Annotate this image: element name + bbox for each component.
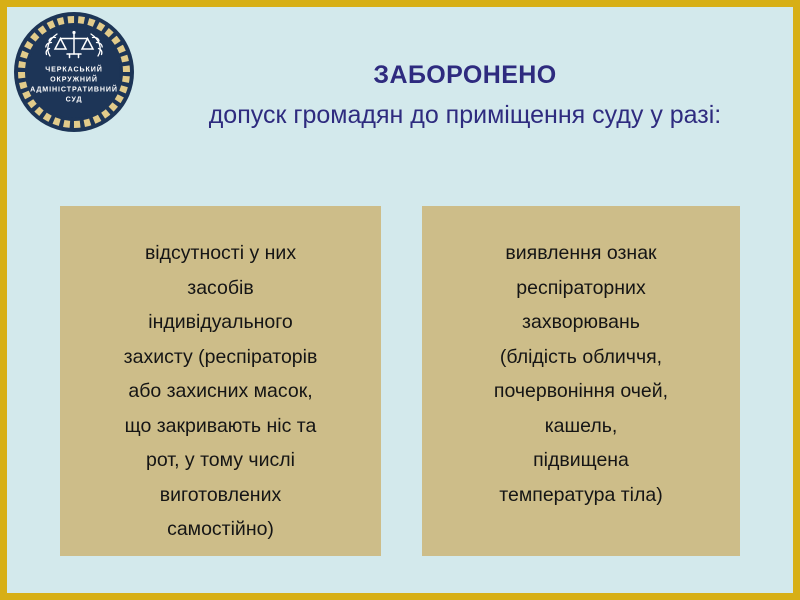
panel-left-line: індивідуального: [60, 305, 381, 340]
panel-right-line: виявлення ознак: [422, 236, 740, 271]
panel-right-line: температура тіла): [422, 478, 740, 513]
panel-left-line: або захисних масок,: [60, 374, 381, 409]
seal-line-2: ОКРУЖНИЙ: [50, 75, 98, 84]
seal-icon: ЧЕРКАСЬКИЙ ОКРУЖНИЙ АДМІНІСТРАТИВНИЙ СУД: [12, 10, 136, 134]
panel-left-line: що закривають ніс та: [60, 409, 381, 444]
info-panel-left: відсутності у них засобів індивідуальног…: [60, 206, 381, 556]
panel-left-line: виготовлених: [60, 478, 381, 513]
panel-right-line: захворювань: [422, 305, 740, 340]
slide-canvas: ЧЕРКАСЬКИЙ ОКРУЖНИЙ АДМІНІСТРАТИВНИЙ СУД…: [0, 0, 800, 600]
court-seal-emblem: ЧЕРКАСЬКИЙ ОКРУЖНИЙ АДМІНІСТРАТИВНИЙ СУД: [12, 10, 136, 134]
panel-left-line: захисту (респіраторів: [60, 340, 381, 375]
panel-right-line: почервоніння очей,: [422, 374, 740, 409]
seal-line-4: СУД: [66, 96, 83, 104]
headline-zaboroneno: ЗАБОРОНЕНО: [137, 59, 793, 91]
panel-left-line: самостійно): [60, 512, 381, 547]
panel-left-line: засобів: [60, 271, 381, 306]
panel-left-line: відсутності у них: [60, 236, 381, 271]
panel-right-line: респіраторних: [422, 271, 740, 306]
panel-right-line: (блідість обличчя,: [422, 340, 740, 375]
seal-line-3: АДМІНІСТРАТИВНИЙ: [30, 85, 118, 94]
panel-right-line: кашель,: [422, 409, 740, 444]
subhead-text: допуск громадян до приміщення суду у раз…: [137, 97, 793, 133]
info-panel-right: виявлення ознак респіраторних захворюван…: [422, 206, 740, 556]
seal-line-1: ЧЕРКАСЬКИЙ: [45, 65, 102, 74]
panel-right-line: підвищена: [422, 443, 740, 478]
panel-left-line: рот, у тому числі: [60, 443, 381, 478]
title-block: ЗАБОРОНЕНО допуск громадян до приміщення…: [137, 59, 793, 133]
